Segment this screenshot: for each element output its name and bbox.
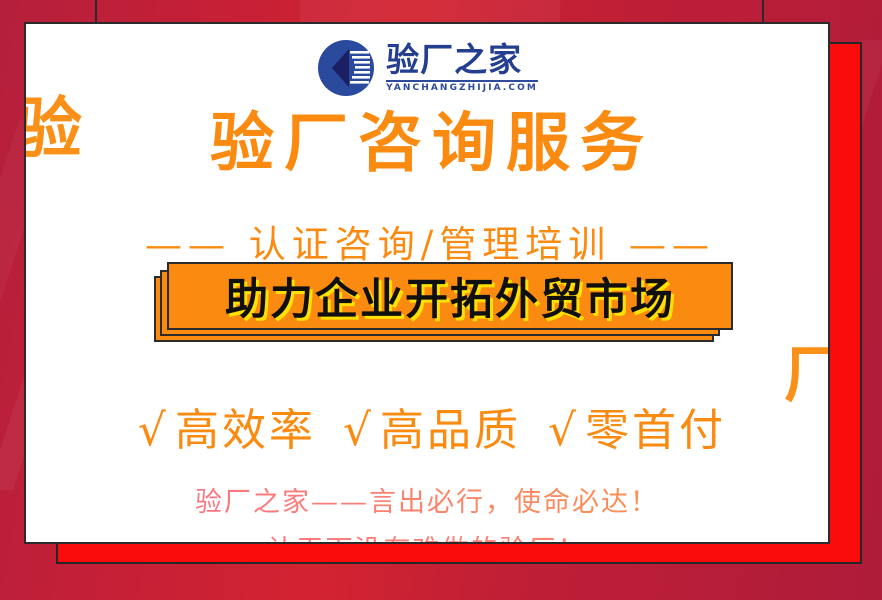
benefits-row: √高效率 √高品质 √零首付 [26,394,828,458]
benefit-label: 高效率 [175,405,316,456]
poster-card: 验 厂 [24,22,830,544]
brand-logo-text: 验厂之家 YANCHANGZHIJIA.COM [386,43,538,93]
brand-name-cn: 验厂之家 [386,43,522,76]
banner-layer-front: 助力企业开拓外贸市场 [167,262,733,330]
check-icon: √ [343,405,374,456]
poster-root: 验 厂 [0,0,882,600]
benefit-label: 高品质 [380,405,521,456]
slogan-secondary: 让天下没有难做的验厂！ [26,528,828,544]
brand-logo: 验厂之家 YANCHANGZHIJIA.COM [26,38,828,98]
yanchangzhijia-circular-logo-icon [316,38,376,98]
benefit-item: √高品质 [333,405,521,456]
benefit-item: √高效率 [128,405,316,456]
highlight-banner: 助力企业开拓外贸市场 [154,258,734,350]
banner-text: 助力企业开拓外贸市场 [225,265,675,327]
slogan-primary: 验厂之家——言出必行，使命必达！ [26,480,828,519]
check-icon: √ [138,405,169,456]
poster-headline: 验厂咨询服务 [26,110,828,179]
benefit-item: √零首付 [538,405,726,456]
benefit-label: 零首付 [585,405,726,456]
check-icon: √ [548,405,579,456]
brand-website-url: YANCHANGZHIJIA.COM [386,80,538,93]
